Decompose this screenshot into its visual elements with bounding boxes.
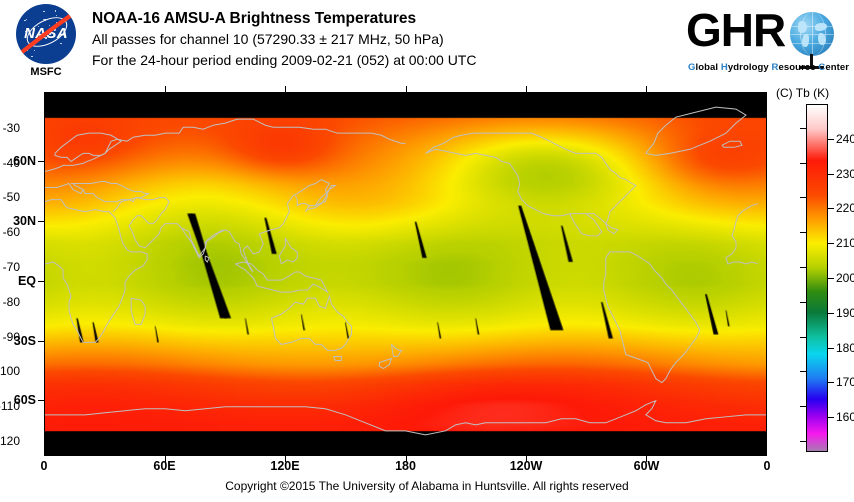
- coastline-path: [131, 298, 145, 324]
- colorbar-celsius-tick: [800, 232, 806, 233]
- colorbar-kelvin-160: 160: [836, 410, 854, 424]
- colorbar-kelvin-tick: [828, 208, 834, 209]
- header: NASA MSFC NOAA-16 AMSU-A Brightness Temp…: [0, 0, 854, 88]
- ghrc-globe-icon: [790, 12, 834, 56]
- colorbar: [806, 104, 828, 452]
- colorbar-kelvin-tick: [828, 348, 834, 349]
- coastline-path: [722, 141, 742, 147]
- colorbar-kelvin-170: 170: [836, 375, 854, 389]
- colorbar-kelvin-tick: [828, 139, 834, 140]
- longitude-tick: [646, 86, 647, 92]
- colorbar-kelvin-210: 210: [836, 236, 854, 250]
- latitude-tick: [38, 161, 44, 162]
- colorbar-celsius-tick: [800, 267, 806, 268]
- coastline-path: [45, 119, 406, 171]
- longitude-tick: [285, 86, 286, 92]
- colorbar-celsius-tick: [800, 302, 806, 303]
- ghrc-logo: GHR Global Hydrology Resource Center: [686, 6, 846, 78]
- longitude-tick: [165, 86, 166, 92]
- nasa-logo: NASA MSFC: [10, 4, 82, 84]
- latitude-tick: [38, 221, 44, 222]
- ghrc-subtitle: Global Hydrology Resource Center: [688, 62, 849, 73]
- coastline-path: [333, 356, 341, 360]
- map-plot: [44, 92, 767, 456]
- title-block: NOAA-16 AMSU-A Brightness Temperatures A…: [92, 8, 672, 71]
- colorbar-celsius-tick: [800, 128, 806, 129]
- colorbar-celsius--50: -50: [3, 190, 20, 204]
- colorbar-kelvin-tick: [828, 278, 834, 279]
- longitude-tick-marks-bottom: [44, 456, 767, 464]
- coastline-path: [726, 204, 758, 264]
- nasa-insignia-icon: NASA: [16, 4, 76, 64]
- colorbar-kelvin-220: 220: [836, 201, 854, 215]
- coastline-path: [606, 224, 618, 234]
- latitude-tick: [38, 281, 44, 282]
- page-title: NOAA-16 AMSU-A Brightness Temperatures: [92, 8, 672, 29]
- colorbar-celsius--120: -120: [0, 434, 20, 448]
- coastline-path: [604, 252, 700, 383]
- colorbar-kelvin-190: 190: [836, 306, 854, 320]
- colorbar-kelvin-180: 180: [836, 341, 854, 355]
- colorbar-celsius--30: -30: [3, 121, 20, 135]
- coastline-path: [426, 133, 636, 223]
- colorbar-celsius-tick: [800, 337, 806, 338]
- longitude-tick-marks-top: [44, 86, 767, 94]
- ghrc-wordmark: GHR: [686, 4, 785, 56]
- colorbar-celsius--90: -90: [3, 330, 20, 344]
- coastline-path: [205, 256, 209, 262]
- coastline-path: [391, 344, 401, 356]
- colorbar-celsius-tick: [800, 441, 806, 442]
- coastline-path: [45, 401, 766, 435]
- longitude-tick: [646, 456, 647, 462]
- colorbar-celsius-tick: [800, 163, 806, 164]
- coastline-path: [55, 133, 121, 161]
- colorbar-celsius-tick: [800, 371, 806, 372]
- colorbar-celsius--60: -60: [3, 225, 20, 239]
- colorbar-celsius-tick: [800, 197, 806, 198]
- page-subtitle-period: For the 24-hour period ending 2009-02-21…: [92, 50, 672, 71]
- coastline-overlay: [45, 93, 766, 455]
- latitude-tick: [38, 341, 44, 342]
- colorbar-celsius-tick: [800, 406, 806, 407]
- longitude-tick: [165, 456, 166, 462]
- colorbar-kelvin-tick: [828, 174, 834, 175]
- colorbar-kelvin-tick: [828, 417, 834, 418]
- colorbar-kelvin-200: 200: [836, 271, 854, 285]
- longitude-tick: [406, 456, 407, 462]
- colorbar-celsius--110: -110: [0, 399, 20, 413]
- coastline-path: [181, 228, 223, 258]
- colorbar-celsius--40: -40: [3, 156, 20, 170]
- colorbar-kelvin-tick: [828, 313, 834, 314]
- coastline-path: [305, 185, 335, 211]
- coastline-path: [646, 107, 746, 155]
- colorbar-celsius--80: -80: [3, 295, 20, 309]
- coastline-path: [379, 358, 391, 368]
- coastline-path: [279, 238, 297, 264]
- colorbar-kelvin-240: 240: [836, 132, 854, 146]
- colorbar-celsius--100: -100: [0, 364, 20, 378]
- coastline-path: [570, 214, 602, 236]
- longitude-tick: [406, 86, 407, 92]
- nasa-swoosh-icon: [16, 8, 76, 60]
- copyright-notice: Copyright ©2015 The University of Alabam…: [0, 479, 854, 493]
- latitude-tick: [38, 400, 44, 401]
- colorbar-kelvin-tick: [828, 382, 834, 383]
- nasa-center-label: MSFC: [10, 66, 82, 78]
- colorbar-gradient: [807, 105, 827, 451]
- page-subtitle-channel: All passes for channel 10 (57290.33 ± 21…: [92, 29, 672, 50]
- coastline-path: [271, 296, 351, 350]
- colorbar-kelvin-tick: [828, 243, 834, 244]
- longitude-tick: [526, 456, 527, 462]
- longitude-tick: [526, 86, 527, 92]
- colorbar-kelvin-230: 230: [836, 167, 854, 181]
- colorbar-celsius--70: -70: [3, 260, 20, 274]
- longitude-tick: [285, 456, 286, 462]
- colorbar-title: (C) Tb (K): [776, 86, 829, 100]
